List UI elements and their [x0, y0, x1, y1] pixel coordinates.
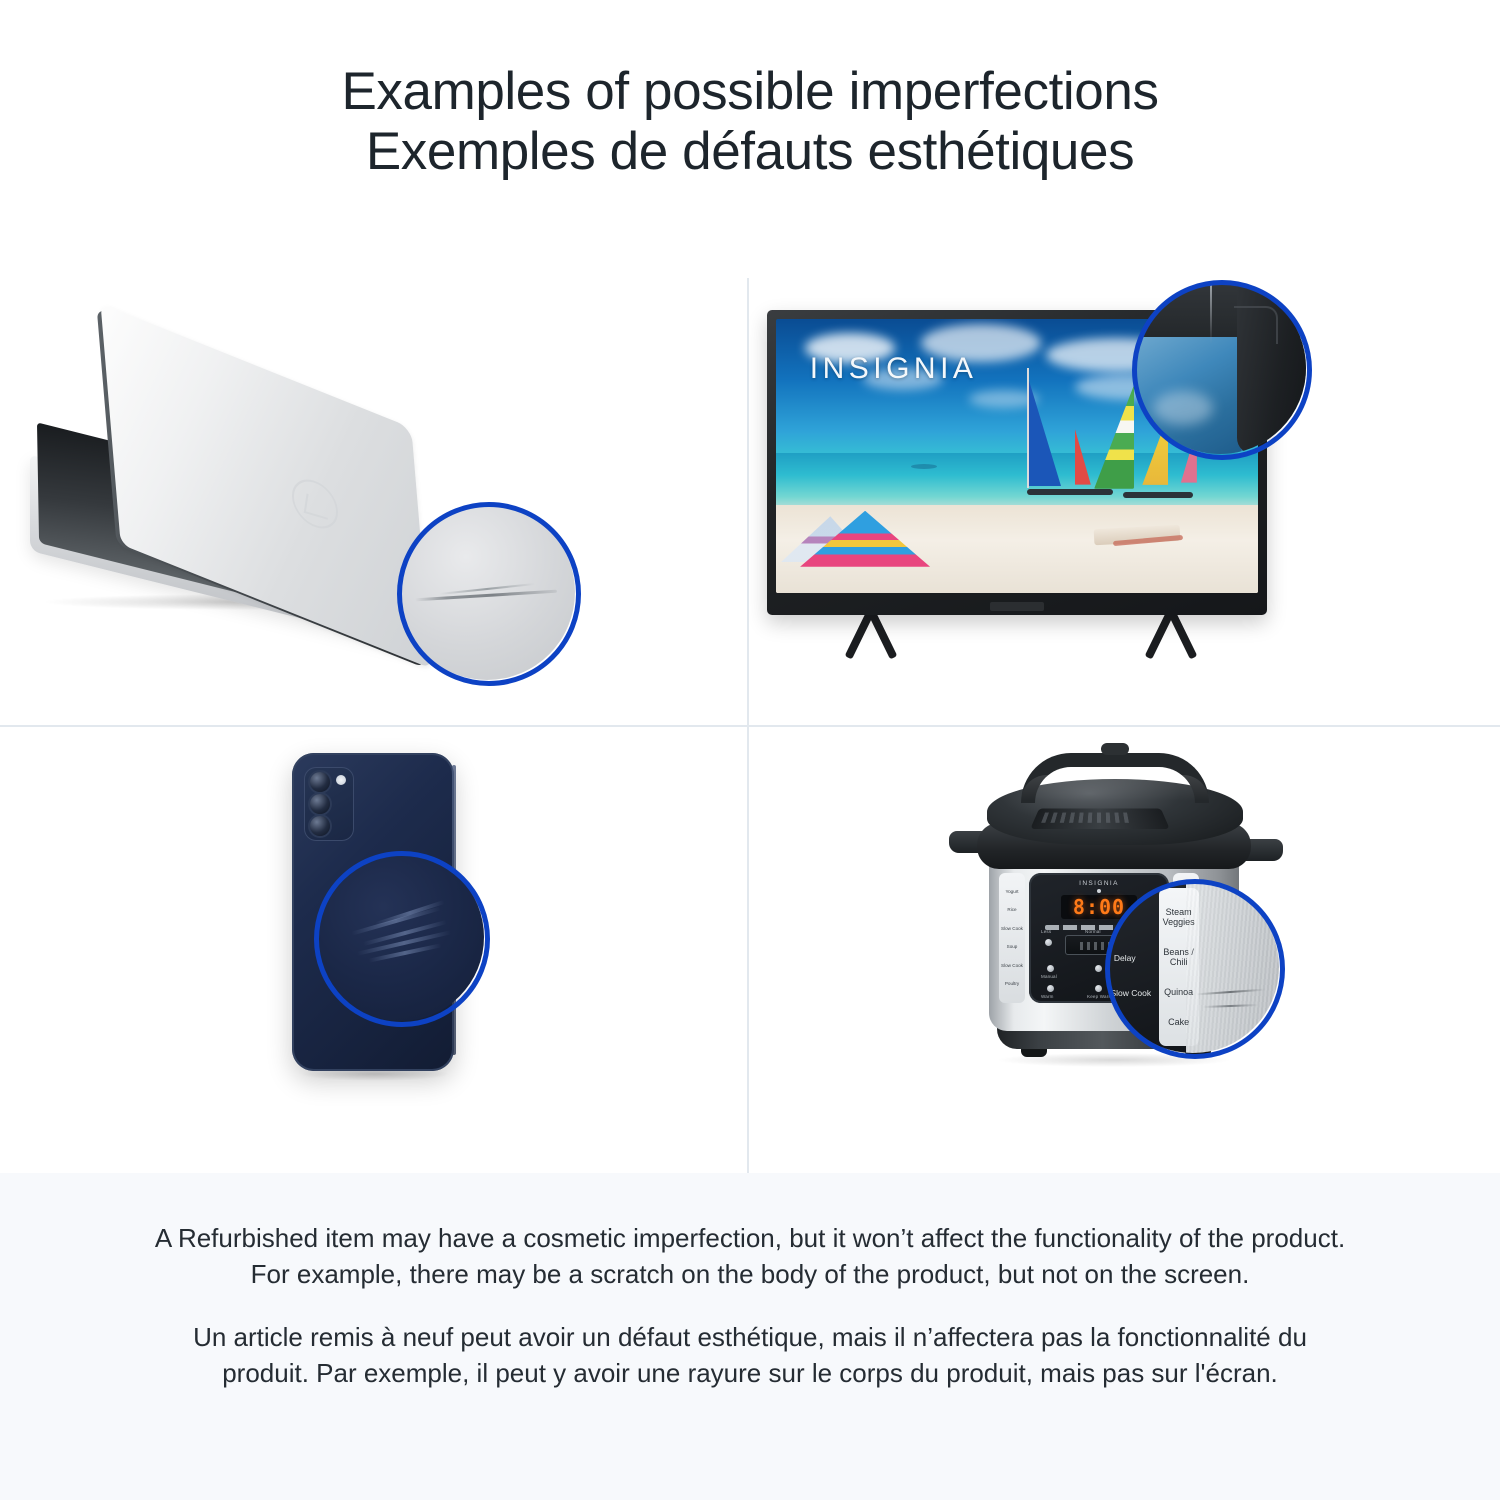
cooker-button[interactable]: Slow Cook [1001, 963, 1023, 969]
cooker-label-warm: Warm [1041, 994, 1054, 999]
camera-flash-icon [336, 775, 346, 785]
tv-leg [1167, 609, 1197, 659]
camera-lens-icon [310, 816, 330, 836]
cooker-button[interactable]: Slow Cook [1001, 926, 1023, 932]
example-cell-television: INSIGNIA [749, 278, 1496, 725]
pressure-cooker-illustration: Yogurt Rice Slow Cook Soup Slow Cook Pou… [749, 727, 1496, 1174]
cooker-steam-valve [1101, 743, 1129, 755]
blue-sail [1027, 374, 1061, 486]
camera-module [304, 767, 354, 841]
example-cell-pressure-cooker: Yogurt Rice Slow Cook Soup Slow Cook Pou… [749, 727, 1496, 1174]
cooker-button[interactable]: Poultry [1005, 981, 1019, 987]
cooker-button-manual[interactable] [1047, 965, 1054, 972]
insignia-screen-logo: INSIGNIA [810, 352, 978, 386]
television-illustration: INSIGNIA [749, 278, 1496, 725]
laptop-magnifier-ring [397, 502, 581, 686]
tv-brand-bar [990, 602, 1044, 611]
cooker-button[interactable]: Yogurt [1005, 889, 1018, 895]
cooker-label-less: Less [1041, 929, 1051, 934]
sail-mast [1027, 368, 1029, 488]
camera-lens-icon [310, 794, 330, 814]
cooker-indicator-led [1097, 889, 1101, 893]
disclaimer-english: A Refurbished item may have a cosmetic i… [150, 1221, 1350, 1292]
laptop-illustration [0, 278, 747, 725]
cooker-button[interactable]: Soup [1007, 944, 1018, 950]
cooker-button[interactable]: Rice [1007, 907, 1016, 913]
page-title-english: Examples of possible imperfections [0, 62, 1500, 122]
cooker-magnifier-ring [1105, 879, 1285, 1059]
disclaimer-french: Un article remis à neuf peut avoir un dé… [150, 1320, 1350, 1391]
page-title: Examples of possible imperfections Exemp… [0, 62, 1500, 182]
example-cell-laptop [0, 278, 747, 725]
page-title-french: Exemples de défauts esthétiques [0, 122, 1500, 182]
boat-hull [1123, 492, 1193, 498]
cooker-label-manual: Manual [1041, 974, 1057, 979]
phone-magnifier-ring [314, 851, 490, 1027]
laptop-lid [100, 303, 431, 668]
tv-leg [867, 609, 897, 659]
camera-lens-icon [310, 772, 330, 792]
cooker-lid-handle [1021, 753, 1209, 803]
cooker-left-button-strip[interactable]: Yogurt Rice Slow Cook Soup Slow Cook Pou… [999, 873, 1025, 1003]
boat-hull [1027, 489, 1113, 495]
refurbished-imperfections-infographic: Examples of possible imperfections Exemp… [0, 0, 1500, 1500]
footer-disclaimer: A Refurbished item may have a cosmetic i… [0, 1173, 1500, 1500]
cooker-label-normal: Normal [1085, 929, 1101, 934]
cooker-lid-vent-panel [1030, 808, 1170, 828]
page-header: Examples of possible imperfections Exemp… [0, 0, 1500, 182]
cooker-button-minus[interactable] [1045, 939, 1052, 946]
tv-magnifier-ring [1132, 280, 1312, 460]
smartphone-illustration [0, 727, 747, 1174]
example-cell-smartphone [0, 727, 747, 1174]
cooker-button-warm[interactable] [1047, 985, 1054, 992]
examples-grid: INSIGNIA [0, 278, 1500, 1173]
cooker-button-mode[interactable] [1095, 965, 1102, 972]
cooker-button-keep-warm[interactable] [1095, 985, 1102, 992]
